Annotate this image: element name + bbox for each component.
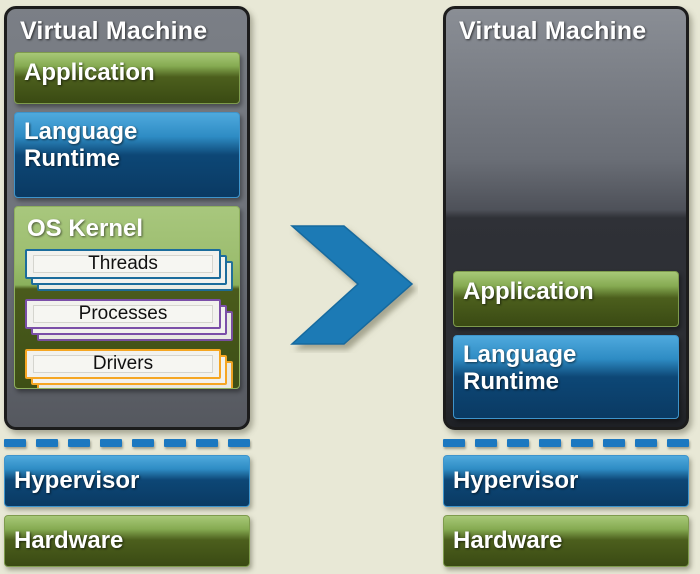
left-os-kernel-block[interactable]: OS Kernel Threads Processes Drivers xyxy=(14,206,240,389)
chevron-right-icon xyxy=(288,218,418,353)
dash-segment xyxy=(68,439,90,447)
dash-segment xyxy=(539,439,561,447)
dash-segment xyxy=(228,439,250,447)
kernel-card-processes-label: Processes xyxy=(25,299,221,329)
left-hardware-bar[interactable]: Hardware xyxy=(4,515,250,567)
spacer-1 xyxy=(14,104,240,112)
left-application-label: Application xyxy=(15,53,239,95)
spacer-3 xyxy=(4,507,250,515)
dash-segment xyxy=(4,439,26,447)
right-hypervisor-label: Hypervisor xyxy=(444,456,688,495)
kernel-card-threads[interactable]: Threads xyxy=(25,249,231,293)
spacer-4 xyxy=(453,327,679,335)
right-hardware-label: Hardware xyxy=(444,516,688,555)
dash-segment xyxy=(196,439,218,447)
dash-segment xyxy=(100,439,122,447)
left-os-kernel-label: OS Kernel xyxy=(25,213,231,249)
right-hardware-bar[interactable]: Hardware xyxy=(443,515,689,567)
dash-segment xyxy=(475,439,497,447)
right-language-runtime-bar[interactable]: Language Runtime xyxy=(453,335,679,419)
left-hardware-label: Hardware xyxy=(5,516,249,555)
right-virtualization-boundary xyxy=(443,436,689,450)
dash-segment xyxy=(443,439,465,447)
kernel-card-drivers[interactable]: Drivers xyxy=(25,349,231,389)
right-hypervisor-bar[interactable]: Hypervisor xyxy=(443,455,689,507)
right-application-label: Application xyxy=(454,272,678,314)
spacer-5 xyxy=(443,507,689,515)
dash-segment xyxy=(132,439,154,447)
left-hypervisor-label: Hypervisor xyxy=(5,456,249,495)
dash-segment xyxy=(667,439,689,447)
left-vm-title: Virtual Machine xyxy=(14,15,240,52)
dash-segment xyxy=(603,439,625,447)
left-virtualization-boundary xyxy=(4,436,250,450)
left-virtual-machine-box: Virtual Machine Application Language Run… xyxy=(4,6,250,430)
dash-segment xyxy=(507,439,529,447)
right-vm-title: Virtual Machine xyxy=(453,15,679,46)
left-language-runtime-line2: Runtime xyxy=(24,146,239,173)
dash-segment xyxy=(164,439,186,447)
kernel-card-threads-label: Threads xyxy=(25,249,221,279)
left-hypervisor-bar[interactable]: Hypervisor xyxy=(4,455,250,507)
right-application-bar[interactable]: Application xyxy=(453,271,679,327)
right-vm-empty-space xyxy=(453,46,679,271)
right-language-runtime-line2: Runtime xyxy=(463,369,678,396)
right-virtual-machine-box: Virtual Machine Application Language Run… xyxy=(443,6,689,430)
dash-segment xyxy=(635,439,657,447)
dash-segment xyxy=(571,439,593,447)
right-language-runtime-line1: Language xyxy=(463,342,678,369)
left-language-runtime-line1: Language xyxy=(24,119,239,146)
right-architecture-stack: Virtual Machine Application Language Run… xyxy=(443,6,689,567)
kernel-card-processes[interactable]: Processes xyxy=(25,299,231,343)
dash-segment xyxy=(36,439,58,447)
kernel-card-drivers-label: Drivers xyxy=(25,349,221,379)
left-application-bar[interactable]: Application xyxy=(14,52,240,104)
left-architecture-stack: Virtual Machine Application Language Run… xyxy=(4,6,250,567)
spacer-2 xyxy=(14,198,240,206)
left-language-runtime-bar[interactable]: Language Runtime xyxy=(14,112,240,198)
transformation-arrow xyxy=(288,218,418,353)
